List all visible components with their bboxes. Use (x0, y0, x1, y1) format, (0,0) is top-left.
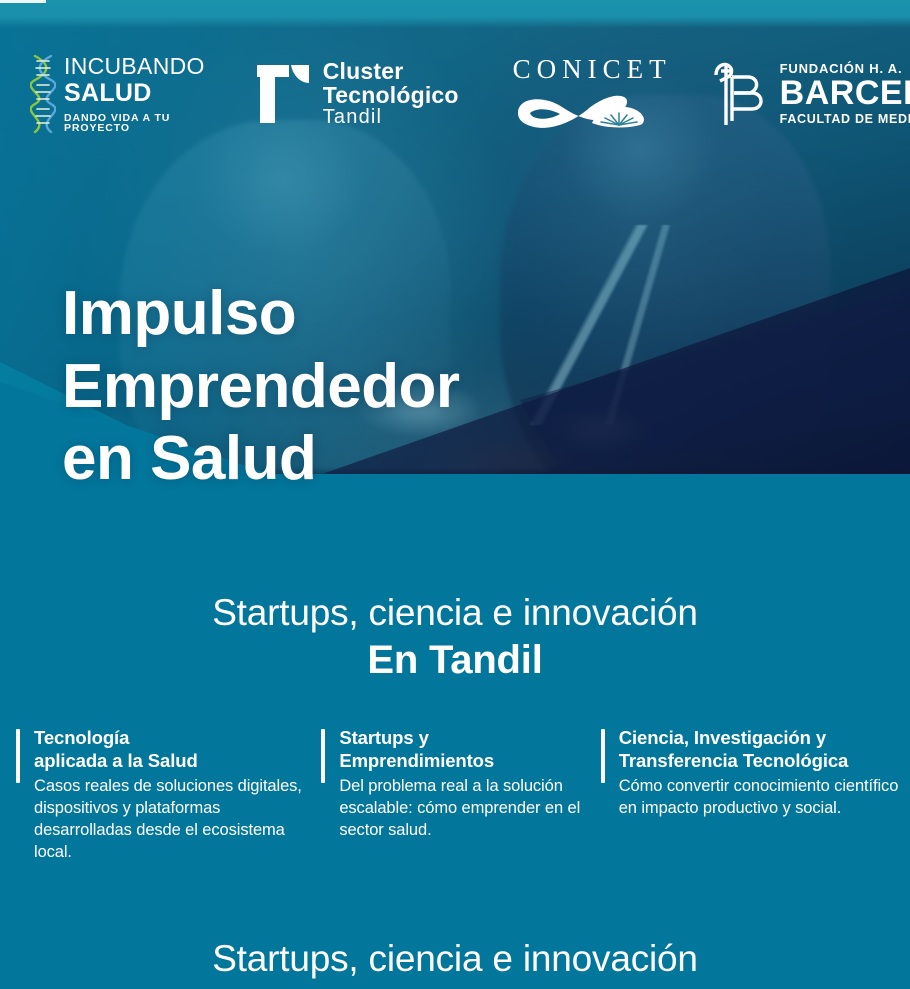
feature-accent-bar (16, 729, 20, 783)
feature-description: Cómo convertir conocimiento científico e… (619, 776, 910, 820)
logo-cluster-tecnologico-tandil: Cluster Tecnológico Tandil (255, 60, 459, 127)
hero-top-light-band (0, 0, 910, 28)
barcelo-fb-monogram-icon (708, 57, 770, 131)
headline-line-2: Emprendedor (62, 351, 460, 424)
incubando-wordmark: INCUBANDO SALUD DANDO VIDA A TU PROYECTO (64, 55, 205, 134)
conicet-infinity-sun-icon (514, 87, 664, 133)
cluster-line-3: Tandil (323, 107, 459, 127)
feature-title-line-2: Emprendimientos (339, 750, 494, 771)
incubando-line-2: SALUD (64, 81, 205, 106)
hero-top-corner-tick (0, 0, 46, 3)
feature-title-line-2: Transferencia Tecnológica (619, 750, 849, 771)
subtitle-line-2: En Tandil (0, 637, 910, 684)
subtitle-line-1: Startups, ciencia e innovación (0, 590, 910, 635)
feature-card-ciencia: Ciencia, Investigación y Transferencia T… (601, 726, 910, 863)
feature-title-line-1: Ciencia, Investigación y (619, 727, 826, 748)
barcelo-line-2: BARCELÓ (780, 76, 910, 110)
feature-title-line-1: Tecnología (34, 727, 129, 748)
feature-card-tecnologia: Tecnología aplicada a la Salud Casos rea… (16, 726, 313, 863)
feature-description: Casos reales de soluciones digitales, di… (34, 776, 313, 863)
dna-helix-icon (30, 54, 56, 134)
footer-tagline: Startups, ciencia e innovación (0, 938, 910, 980)
incubando-line-1: INCUBANDO (64, 55, 205, 78)
feature-accent-bar (601, 729, 605, 783)
partner-logo-bar: INCUBANDO SALUD DANDO VIDA A TU PROYECTO… (0, 44, 910, 144)
feature-title-line-1: Startups y (339, 727, 428, 748)
headline-line-1: Impulso (62, 278, 460, 351)
subtitle-block: Startups, ciencia e innovación En Tandil (0, 590, 910, 684)
cluster-line-2: Tecnológico (323, 84, 459, 107)
logo-fundacion-barcelo: FUNDACIÓN H. A. BARCELÓ FACULTAD DE MEDI… (708, 57, 910, 131)
feature-title: Startups y Emprendimientos (339, 726, 592, 772)
cluster-line-1: Cluster (323, 60, 459, 83)
hero-headline: Impulso Emprendedor en Salud (62, 278, 460, 496)
cluster-tandil-mark-icon (255, 63, 311, 125)
feature-accent-bar (321, 729, 325, 783)
feature-title: Tecnología aplicada a la Salud (34, 726, 313, 772)
barcelo-line-3: FACULTAD DE MEDICINA (780, 113, 910, 126)
promotional-poster: INCUBANDO SALUD DANDO VIDA A TU PROYECTO… (0, 0, 910, 989)
feature-description: Del problema real a la solución escalabl… (339, 776, 592, 841)
headline-line-3: en Salud (62, 423, 460, 496)
barcelo-wordmark: FUNDACIÓN H. A. BARCELÓ FACULTAD DE MEDI… (780, 62, 910, 126)
feature-card-startups: Startups y Emprendimientos Del problema … (321, 726, 592, 863)
feature-title-line-2: aplicada a la Salud (34, 750, 198, 771)
conicet-wordmark: CONICET (507, 56, 672, 83)
logo-incubando-salud: INCUBANDO SALUD DANDO VIDA A TU PROYECTO (30, 54, 205, 134)
cluster-wordmark: Cluster Tecnológico Tandil (323, 60, 459, 127)
feature-title: Ciencia, Investigación y Transferencia T… (619, 726, 910, 772)
incubando-tagline: DANDO VIDA A TU PROYECTO (64, 113, 205, 134)
feature-columns: Tecnología aplicada a la Salud Casos rea… (0, 726, 910, 863)
logo-conicet: CONICET (507, 56, 672, 133)
